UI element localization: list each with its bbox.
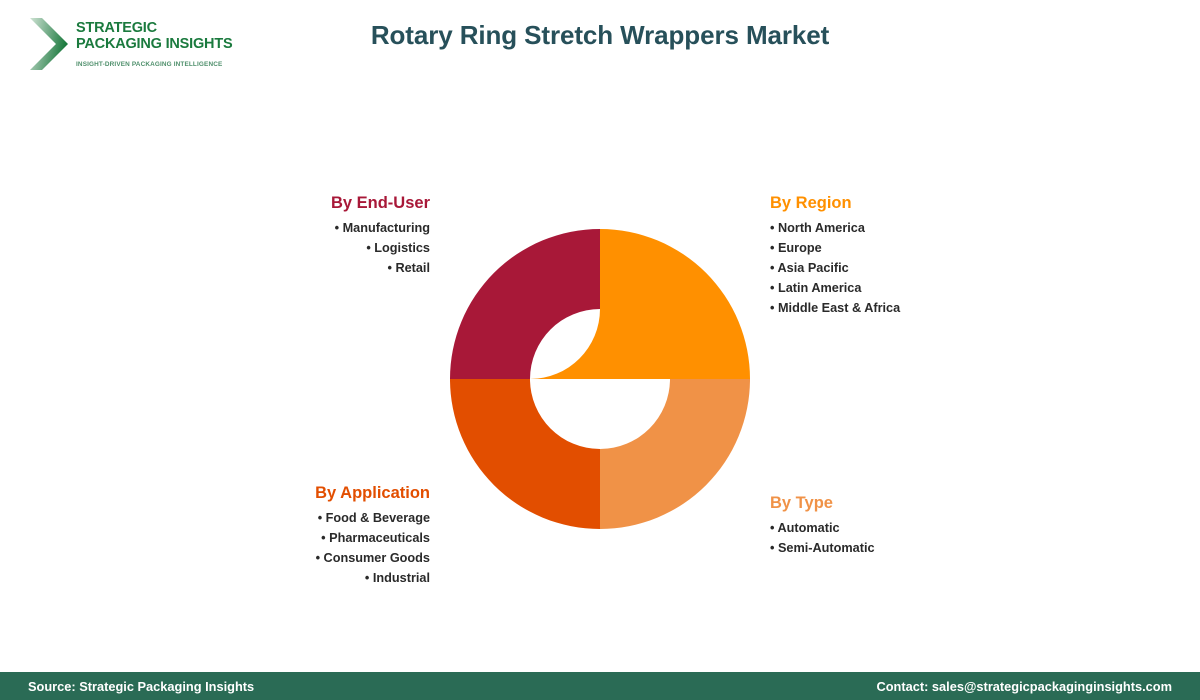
segment-item-label: Logistics	[374, 241, 430, 255]
segment-item-label: Manufacturing	[343, 221, 430, 235]
segment-group-end-user: By End-User • Manufacturing • Logistics …	[150, 193, 430, 278]
logo-tagline: INSIGHT-DRIVEN PACKAGING INTELLIGENCE	[76, 61, 208, 68]
footer-bar: Source: Strategic Packaging Insights Con…	[0, 672, 1200, 700]
list-item: • Europe	[770, 238, 1070, 258]
donut-chart-svg	[450, 229, 750, 529]
list-item: • Manufacturing	[150, 218, 430, 238]
footer-source: Source: Strategic Packaging Insights	[28, 679, 254, 694]
list-item: • Industrial	[140, 568, 430, 588]
infographic-page: STRATEGIC PACKAGING INSIGHTS INSIGHT-DRI…	[0, 0, 1200, 700]
segment-item-label: Semi-Automatic	[778, 541, 875, 555]
segment-item-label: Europe	[778, 241, 822, 255]
segment-item-label: Food & Beverage	[326, 511, 430, 525]
segment-item-label: North America	[778, 221, 865, 235]
segment-group-type: By Type • Automatic • Semi-Automatic	[770, 493, 1070, 558]
segment-list-type: • Automatic • Semi-Automatic	[770, 518, 1070, 558]
segment-title-type: By Type	[770, 493, 1070, 513]
donut-segment-application	[450, 379, 600, 529]
segment-title-end-user: By End-User	[150, 193, 430, 213]
segment-title-application: By Application	[140, 483, 430, 503]
list-item: • North America	[770, 218, 1070, 238]
footer-contact: Contact: sales@strategicpackaginginsight…	[876, 679, 1172, 694]
segment-list-end-user: • Manufacturing • Logistics • Retail	[150, 218, 430, 278]
list-item: • Pharmaceuticals	[140, 528, 430, 548]
segment-title-region: By Region	[770, 193, 1070, 213]
segment-item-label: Consumer Goods	[324, 551, 430, 565]
segment-list-region: • North America • Europe • Asia Pacific …	[770, 218, 1070, 318]
list-item: • Semi-Automatic	[770, 538, 1070, 558]
list-item: • Food & Beverage	[140, 508, 430, 528]
segment-group-application: By Application • Food & Beverage • Pharm…	[140, 483, 430, 588]
list-item: • Logistics	[150, 238, 430, 258]
donut-segment-type	[600, 379, 750, 529]
segment-item-label: Latin America	[778, 281, 861, 295]
list-item: • Asia Pacific	[770, 258, 1070, 278]
list-item: • Consumer Goods	[140, 548, 430, 568]
segment-item-label: Industrial	[373, 571, 430, 585]
list-item: • Automatic	[770, 518, 1070, 538]
page-title: Rotary Ring Stretch Wrappers Market	[0, 20, 1200, 51]
donut-segment-end-user	[450, 229, 600, 379]
list-item: • Retail	[150, 258, 430, 278]
segment-group-region: By Region • North America • Europe • Asi…	[770, 193, 1070, 318]
segment-item-label: Automatic	[778, 521, 840, 535]
segment-list-application: • Food & Beverage • Pharmaceuticals • Co…	[140, 508, 430, 588]
segment-item-label: Asia Pacific	[778, 261, 849, 275]
segment-item-label: Pharmaceuticals	[329, 531, 430, 545]
list-item: • Middle East & Africa	[770, 298, 1070, 318]
segment-item-label: Retail	[395, 261, 430, 275]
donut-chart	[450, 229, 750, 529]
segment-item-label: Middle East & Africa	[778, 301, 900, 315]
list-item: • Latin America	[770, 278, 1070, 298]
